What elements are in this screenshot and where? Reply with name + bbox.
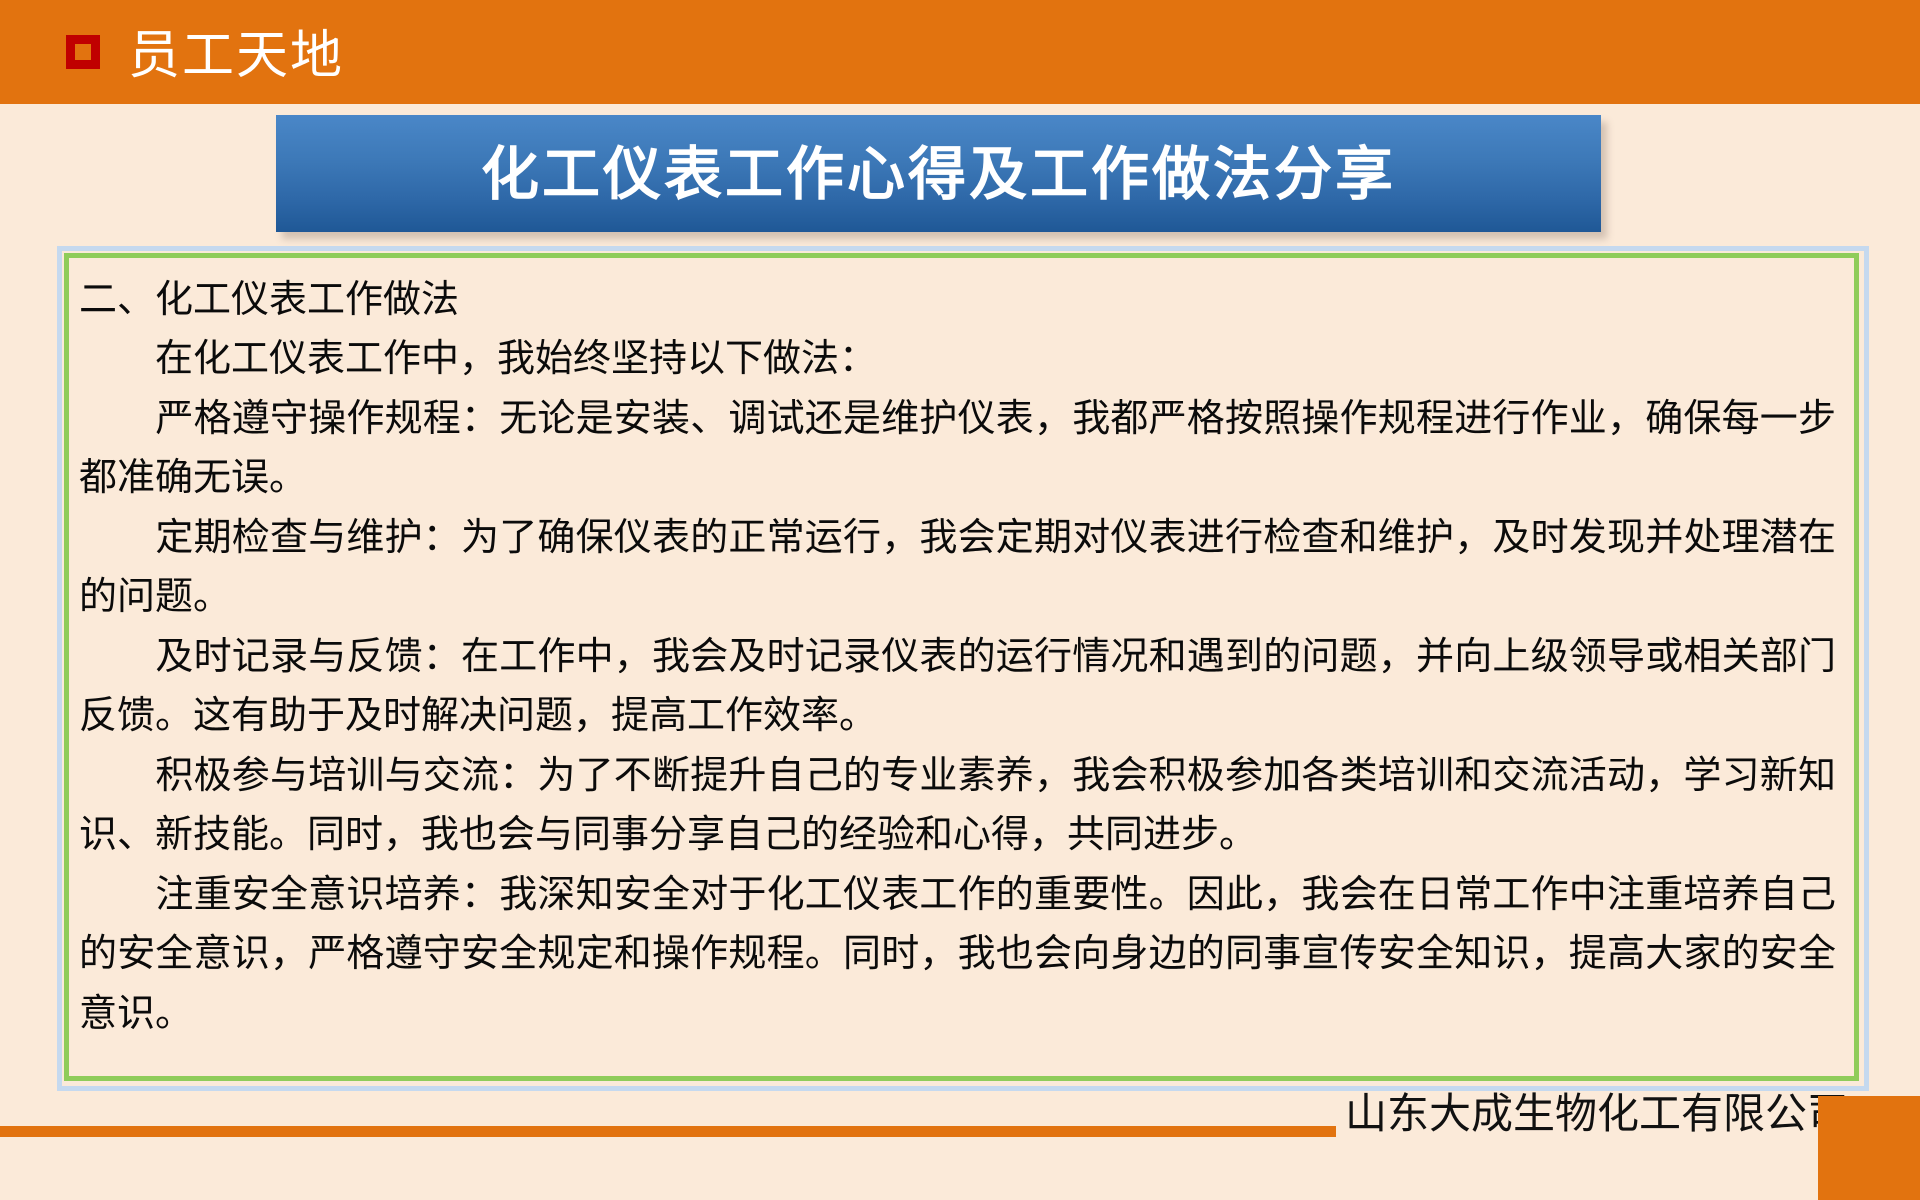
footer-company-name: 山东大成生物化工有限公司 bbox=[1345, 1093, 1815, 1135]
header-bar: 员工天地 bbox=[0, 0, 1920, 104]
footer-rule bbox=[0, 1126, 1336, 1137]
page-title: 员工天地 bbox=[128, 30, 344, 82]
square-bullet-icon bbox=[66, 35, 100, 69]
footer-accent-block bbox=[1818, 1096, 1920, 1200]
content-box: 二、化工仪表工作做法 在化工仪表工作中，我始终坚持以下做法： 严格遵守操作规程：… bbox=[64, 253, 1859, 1081]
title-banner-text: 化工仪表工作心得及工作做法分享 bbox=[481, 145, 1396, 203]
title-banner: 化工仪表工作心得及工作做法分享 bbox=[276, 115, 1601, 232]
slide-canvas: 员工天地 化工仪表工作心得及工作做法分享 二、化工仪表工作做法 在化工仪表工作中… bbox=[0, 0, 1920, 1200]
content-body-text: 二、化工仪表工作做法 在化工仪表工作中，我始终坚持以下做法： 严格遵守操作规程：… bbox=[79, 270, 1836, 1043]
